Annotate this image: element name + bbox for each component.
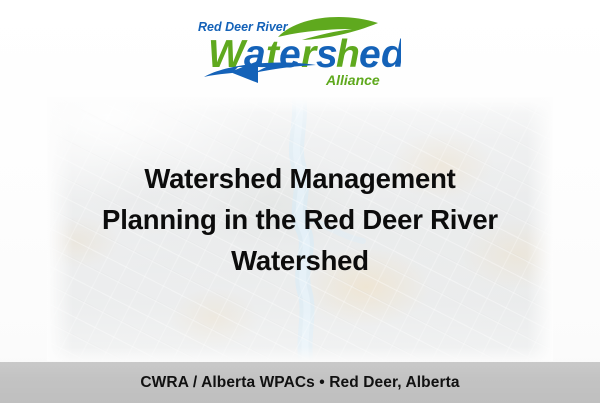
title-line-3: Watershed — [50, 240, 550, 281]
title-line-1: Watershed Management — [50, 158, 550, 199]
logo-tagline-top: Red Deer River — [198, 20, 289, 34]
svg-text:e: e — [359, 33, 381, 76]
logo-tagline-bottom: Alliance — [325, 72, 380, 88]
title-line-2: Planning in the Red Deer River — [50, 199, 550, 240]
presentation-slide: W a t e r s h e d Red Deer River Allianc… — [0, 0, 600, 403]
slide-footer: CWRA / Alberta WPACs • Red Deer, Alberta — [0, 362, 600, 403]
svg-text:d: d — [381, 33, 401, 76]
slide-title: Watershed Management Planning in the Red… — [50, 158, 550, 281]
svg-text:e: e — [279, 33, 301, 76]
svg-text:h: h — [336, 33, 360, 76]
footer-text: CWRA / Alberta WPACs • Red Deer, Alberta — [140, 374, 459, 392]
red-deer-river-watershed-alliance-logo: W a t e r s h e d Red Deer River Allianc… — [186, 9, 401, 91]
svg-text:s: s — [316, 33, 338, 76]
